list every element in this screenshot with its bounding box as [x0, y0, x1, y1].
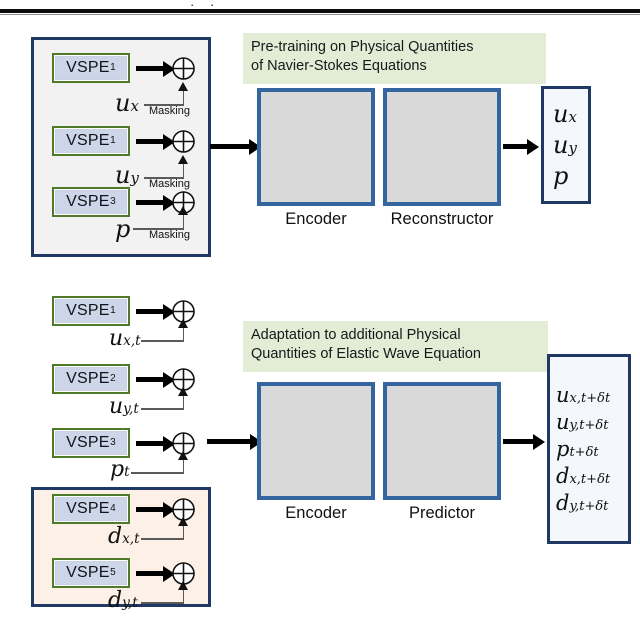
- input-quantity-label-adapt-5: dy,t: [108, 590, 138, 612]
- masking-label-2: Masking: [149, 179, 190, 190]
- output-quantity-adapt-3: pt+δt: [556, 439, 599, 460]
- vspe-label: VSPE1: [55, 299, 127, 323]
- output-subscript: y: [568, 139, 576, 157]
- output-quantity-adapt-4: dx,t+δt: [556, 466, 610, 487]
- connector-h-adapt-4: [141, 538, 184, 540]
- masking-connector-v-2: [183, 163, 185, 178]
- connector-h-adapt-5: [141, 602, 184, 604]
- vspe-label: VSPE1: [55, 56, 127, 80]
- quantity-symbol: u: [109, 394, 123, 419]
- arrow-inputs-to-encoder-adapt: [207, 439, 251, 444]
- vspe-block-adapt-3[interactable]: VSPE3: [52, 428, 130, 458]
- model-caption-encoder-pretrain: Encoder: [257, 211, 375, 228]
- output-subscript: y,t+δt: [569, 499, 608, 514]
- masking-label-1: Masking: [149, 106, 190, 117]
- output-subscript: y,t+δt: [570, 418, 609, 433]
- connector-v-adapt-5: [183, 589, 185, 603]
- input-quantity-label-adapt-1: ux,t: [109, 328, 141, 350]
- quantity-subscript: x,t: [123, 333, 141, 349]
- quantity-symbol: d: [108, 524, 122, 549]
- output-subscript: t+δt: [569, 445, 598, 460]
- masking-connector-v-3: [183, 214, 185, 229]
- input-quantity-label-2: uy: [115, 163, 139, 187]
- input-quantity-label-adapt-4: dx,t: [108, 526, 140, 548]
- vspe-label: VSPE5: [55, 561, 127, 585]
- quantity-subscript: t: [124, 464, 129, 480]
- figure-canvas: · · VSPE1 ux Masking VSPE1 uy Masking VS…: [0, 0, 640, 626]
- vspe-text: VSPE: [66, 60, 110, 76]
- caption-divider-rule-thin: [0, 14, 640, 15]
- output-symbol: u: [556, 383, 570, 407]
- arrow-vspe-to-plus-3: [136, 200, 164, 205]
- output-symbol: u: [553, 100, 568, 128]
- vspe-block-adapt-2[interactable]: VSPE2: [52, 364, 130, 394]
- input-quantity-label-adapt-3: pt: [110, 459, 130, 481]
- output-box-pretraining: ux uy p: [541, 86, 591, 204]
- arrow-vspe-to-plus-2: [136, 139, 164, 144]
- vspe-text: VSPE: [66, 565, 110, 581]
- output-symbol: d: [556, 464, 569, 488]
- plus-circle-1: [171, 56, 196, 81]
- quantity-symbol: u: [115, 89, 130, 117]
- vspe-label: VSPE2: [55, 367, 127, 391]
- vspe-text: VSPE: [66, 303, 110, 319]
- model-box-encoder-pretrain[interactable]: [257, 88, 375, 206]
- caption-remnant-text: · ·: [190, 0, 285, 8]
- vspe-block-pretrain-1[interactable]: VSPE1: [52, 53, 130, 83]
- input-quantity-label-1: ux: [115, 91, 139, 115]
- quantity-subscript: y,t: [122, 595, 138, 611]
- vspe-block-adapt-1[interactable]: VSPE1: [52, 296, 130, 326]
- arrow-vspe-to-plus-adapt-5: [136, 571, 164, 576]
- quantity-symbol: u: [115, 161, 130, 189]
- vspe-block-pretrain-2[interactable]: VSPE1: [52, 126, 130, 156]
- vspe-text: VSPE: [66, 371, 110, 387]
- arrow-predictor-to-output: [503, 439, 534, 444]
- arrow-inputs-to-encoder-pretrain: [210, 144, 250, 149]
- vspe-block-adapt-4[interactable]: VSPE4: [52, 494, 130, 524]
- input-quantity-label-adapt-2: uy,t: [109, 396, 139, 418]
- output-quantity-3: p: [553, 164, 568, 188]
- vspe-text: VSPE: [66, 133, 110, 149]
- output-subscript: x,t+δt: [569, 472, 610, 487]
- model-box-encoder-adapt[interactable]: [257, 382, 375, 500]
- quantity-symbol: p: [110, 457, 124, 482]
- masking-label-3: Masking: [149, 230, 190, 241]
- caption-divider-rule: [0, 9, 640, 13]
- output-box-adaptation: ux,t+δt uy,t+δt pt+δt dx,t+δt dy,t+δt: [547, 354, 631, 544]
- quantity-subscript: x: [130, 97, 138, 115]
- vspe-label: VSPE1: [55, 129, 127, 153]
- quantity-subscript: y,t: [123, 401, 139, 417]
- output-symbol: p: [556, 437, 569, 461]
- model-caption-reconstructor: Reconstructor: [383, 211, 501, 228]
- vspe-block-adapt-5[interactable]: VSPE5: [52, 558, 130, 588]
- connector-h-adapt-1: [141, 340, 184, 342]
- connector-v-adapt-4: [183, 525, 185, 539]
- connector-h-adapt-2: [141, 408, 184, 410]
- arrow-vspe-to-plus-adapt-2: [136, 377, 164, 382]
- arrow-vspe-to-plus-adapt-1: [136, 309, 164, 314]
- output-quantity-adapt-2: uy,t+δt: [556, 412, 609, 433]
- model-caption-encoder-adapt: Encoder: [257, 505, 375, 522]
- vspe-block-pretrain-3[interactable]: VSPE3: [52, 187, 130, 217]
- output-quantity-2: uy: [553, 133, 577, 157]
- output-subscript: x,t+δt: [570, 391, 611, 406]
- quantity-subscript: x,t: [122, 531, 140, 547]
- quantity-subscript: y: [130, 169, 138, 187]
- masking-connector-v-1: [183, 90, 185, 105]
- arrow-reconstructor-to-output: [503, 144, 528, 149]
- arrow-vspe-to-plus-adapt-4: [136, 507, 164, 512]
- output-symbol: d: [556, 491, 569, 515]
- quantity-symbol: d: [108, 588, 122, 613]
- output-quantity-1: ux: [553, 102, 577, 126]
- output-symbol: p: [553, 162, 568, 190]
- output-symbol: u: [553, 131, 568, 159]
- output-quantity-adapt-5: dy,t+δt: [556, 493, 608, 514]
- arrow-vspe-to-plus-adapt-3: [136, 441, 164, 446]
- model-caption-predictor: Predictor: [383, 505, 501, 522]
- vspe-label: VSPE3: [55, 431, 127, 455]
- output-subscript: x: [568, 108, 576, 126]
- connector-v-adapt-3: [183, 459, 185, 473]
- model-box-predictor[interactable]: [383, 382, 501, 500]
- output-symbol: u: [556, 410, 570, 434]
- connector-v-adapt-1: [183, 327, 185, 341]
- vspe-text: VSPE: [66, 194, 110, 210]
- model-box-reconstructor[interactable]: [383, 88, 501, 206]
- stage-header-pretraining: Pre-training on Physical Quantities of N…: [243, 33, 546, 84]
- quantity-symbol: u: [109, 326, 123, 351]
- vspe-label: VSPE3: [55, 190, 127, 214]
- plus-circle-2: [171, 129, 196, 154]
- connector-h-adapt-3: [131, 472, 184, 474]
- vspe-label: VSPE4: [55, 497, 127, 521]
- output-quantity-adapt-1: ux,t+δt: [556, 385, 610, 406]
- vspe-text: VSPE: [66, 501, 110, 517]
- stage-header-adaptation: Adaptation to additional Physical Quanti…: [243, 321, 548, 372]
- quantity-symbol: p: [115, 215, 130, 243]
- vspe-text: VSPE: [66, 435, 110, 451]
- connector-v-adapt-2: [183, 395, 185, 409]
- arrow-vspe-to-plus-1: [136, 66, 164, 71]
- input-quantity-label-3: p: [115, 217, 130, 241]
